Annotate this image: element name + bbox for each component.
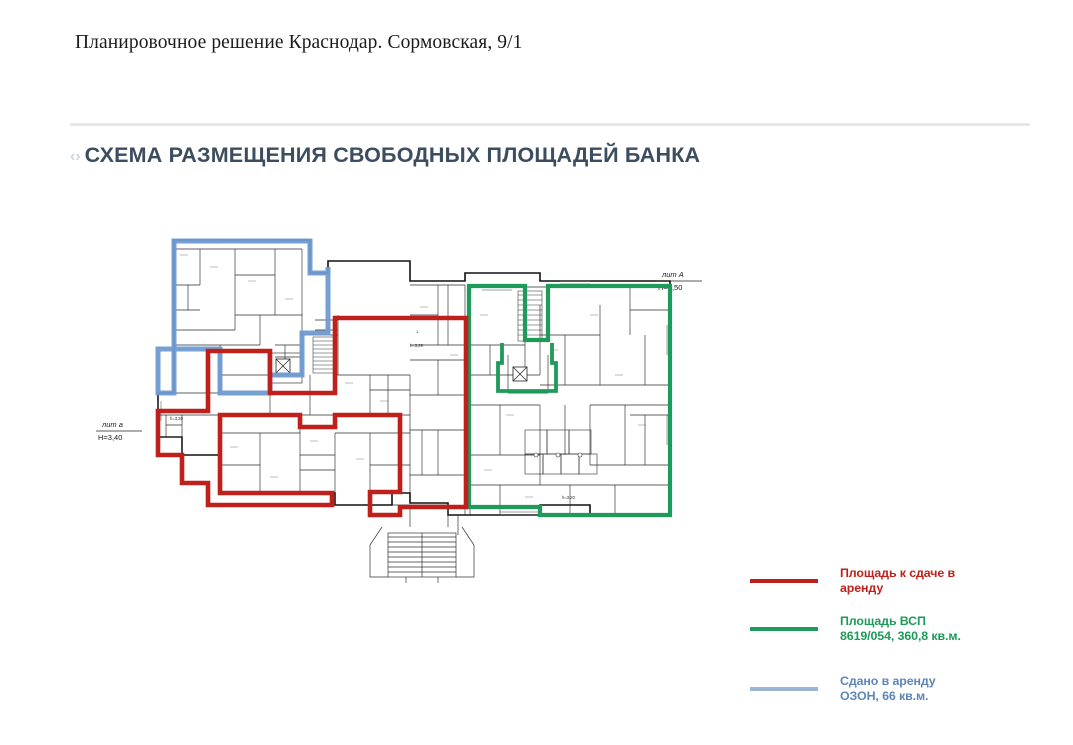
heading-decoration-icon: ‹›	[70, 148, 81, 166]
svg-text:h=3,20: h=3,20	[562, 495, 576, 500]
slide-divider	[70, 123, 1030, 126]
elevator-symbol-center	[513, 367, 527, 381]
legend-item-vsp: Площадь ВСП8619/054, 360,8 кв.м.	[750, 614, 1040, 644]
entrance-stairs	[370, 515, 474, 583]
floor-plan-container: лит А H=3,50 лит а H=3,40 1 h=3,29 h=3,2…	[70, 215, 730, 595]
legend-label-vsp: Площадь ВСП8619/054, 360,8 кв.м.	[840, 614, 961, 644]
legend-label-ozon-rented: Сдано в арендуОЗОН, 66 кв.м.	[840, 674, 936, 704]
legend-swatch-red-icon	[750, 579, 818, 583]
elevator-symbol-left	[276, 359, 290, 373]
annotation-lit-a-small: лит а H=3,40	[96, 420, 142, 442]
svg-text:h=3,29: h=3,29	[410, 343, 424, 348]
zone-outline-ozon-rented	[158, 241, 328, 393]
plan-dimension-ticks	[180, 255, 646, 497]
lit-a-small-height: H=3,40	[98, 433, 122, 442]
legend-swatch-green-icon	[750, 627, 818, 631]
zone-outline-vsp	[469, 286, 670, 515]
slide-heading: СХЕМА РАЗМЕЩЕНИЯ СВОБОДНЫХ ПЛОЩАДЕЙ БАНК…	[85, 143, 701, 168]
legend-label-for-rent: Площадь к сдаче варенду	[840, 566, 955, 596]
legend-item-for-rent: Площадь к сдаче варенду	[750, 566, 1040, 596]
plan-legend: Площадь к сдаче варенду Площадь ВСП8619/…	[750, 566, 1040, 718]
lit-a-label: лит А	[661, 270, 684, 279]
document-title: Планировочное решение Краснодар. Сормовс…	[75, 31, 522, 55]
svg-text:h=3,20: h=3,20	[170, 416, 184, 421]
legend-item-ozon-rented: Сдано в арендуОЗОН, 66 кв.м.	[750, 674, 1040, 704]
svg-text:1: 1	[416, 329, 419, 334]
legend-swatch-blue-icon	[750, 687, 818, 691]
plan-interior-walls	[158, 249, 670, 527]
lit-a-small-label: лит а	[101, 420, 123, 429]
slide-heading-container: ‹› СХЕМА РАЗМЕЩЕНИЯ СВОБОДНЫХ ПЛОЩАДЕЙ Б…	[70, 143, 700, 168]
floor-plan-drawing: лит А H=3,50 лит а H=3,40 1 h=3,29 h=3,2…	[70, 215, 730, 595]
annotation-lit-a: лит А H=3,50	[656, 270, 702, 292]
